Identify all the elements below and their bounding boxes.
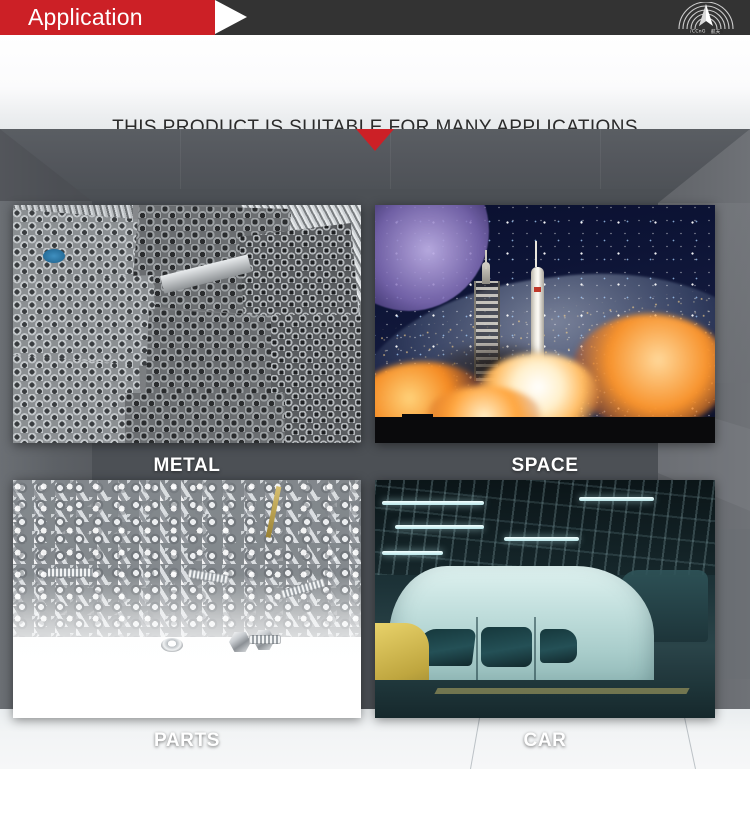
gallery-label-car: CAR bbox=[375, 730, 715, 752]
screws-bolts-nuts-photo bbox=[13, 480, 361, 718]
car-assembly-line-photo bbox=[375, 480, 715, 718]
pipe-bundle bbox=[125, 393, 285, 443]
ceiling-light-tube bbox=[382, 551, 443, 555]
ceiling-light-tube bbox=[579, 497, 654, 501]
gallery-label-metal: METAL bbox=[13, 455, 361, 477]
gallery-label-parts: PARTS bbox=[13, 730, 361, 752]
subtitle-strip: THIS PRODUCT IS SUITABLE FOR MANY APPLIC… bbox=[0, 35, 750, 129]
tower-mast bbox=[485, 250, 487, 269]
showroom-background: METAL bbox=[0, 129, 750, 769]
gallery-label-space: SPACE bbox=[375, 455, 715, 477]
company-logo: /CCnG 航天 bbox=[675, 2, 737, 34]
svg-text:航天: 航天 bbox=[711, 28, 721, 34]
rocket-launch-photo bbox=[375, 205, 715, 443]
rocket-tip bbox=[535, 241, 537, 267]
pipe-bundle bbox=[13, 275, 158, 371]
launch-pad-ground bbox=[375, 417, 715, 443]
blue-cap-detail bbox=[43, 249, 65, 263]
parts-artwork bbox=[13, 480, 361, 718]
application-gallery-grid: METAL bbox=[0, 129, 750, 769]
threaded-screw bbox=[249, 635, 281, 644]
gallery-item-parts[interactable] bbox=[13, 480, 361, 718]
ceiling-light-tube bbox=[382, 501, 484, 505]
threaded-screw bbox=[47, 568, 93, 577]
ceiling-light-tube bbox=[395, 525, 483, 529]
gallery-item-metal[interactable] bbox=[13, 205, 361, 443]
car-factory-artwork bbox=[375, 480, 715, 718]
pipe-bundle bbox=[13, 209, 143, 285]
car-window-mid bbox=[481, 627, 531, 667]
gallery-item-car[interactable] bbox=[375, 480, 715, 718]
factory-floor bbox=[375, 680, 715, 718]
pipes-artwork bbox=[13, 205, 361, 443]
stacked-steel-pipes-photo bbox=[13, 205, 361, 443]
page-title: Application bbox=[28, 0, 143, 35]
washer-ring bbox=[161, 638, 183, 652]
pipe-field bbox=[13, 205, 361, 443]
space-artwork bbox=[375, 205, 715, 443]
svg-text:/CCnG: /CCnG bbox=[690, 29, 706, 34]
car-window-rear bbox=[540, 629, 577, 663]
red-down-triangle-icon bbox=[356, 129, 394, 151]
pipe-bundle bbox=[13, 355, 143, 443]
ceiling-light-tube bbox=[504, 537, 579, 541]
application-header-bar: Application /CCnG 航天 bbox=[0, 0, 750, 35]
white-background-fade bbox=[13, 575, 361, 718]
header-arrow-shape bbox=[215, 0, 247, 34]
gallery-item-space[interactable] bbox=[375, 205, 715, 443]
